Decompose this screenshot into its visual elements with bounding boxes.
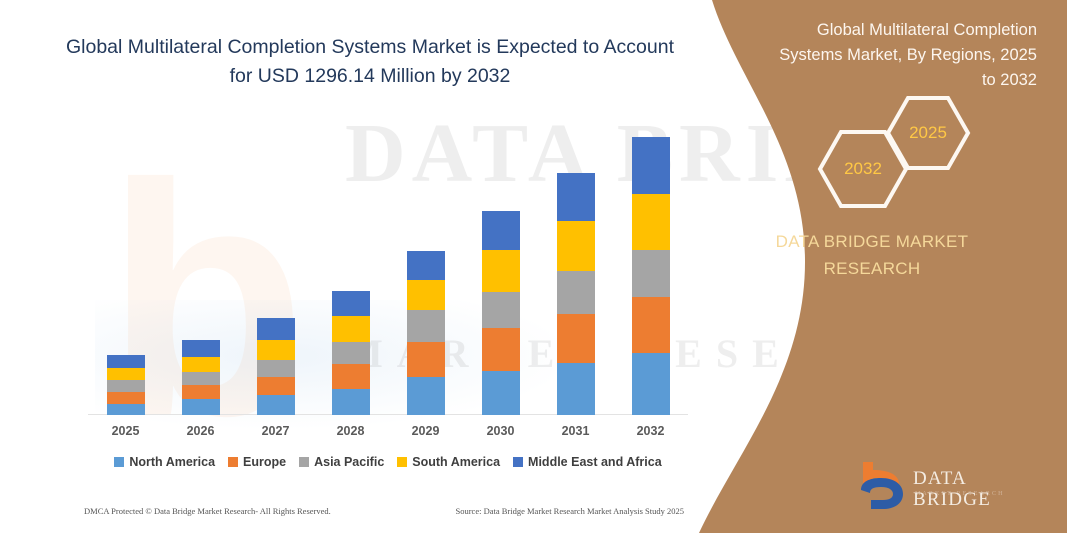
bar-segment-north-america bbox=[332, 389, 370, 415]
footer-dmca-text: DMCA Protected © Data Bridge Market Rese… bbox=[84, 506, 331, 516]
bar-segment-europe bbox=[182, 385, 220, 399]
bar-2027 bbox=[257, 318, 295, 415]
bar-segment-south-america bbox=[407, 280, 445, 310]
databridge-logo: DATA BRIDGE MARKET RESEARCH bbox=[855, 458, 1045, 514]
bar-segment-asia-pacific bbox=[257, 360, 295, 377]
bar-segment-north-america bbox=[182, 399, 220, 415]
databridge-logo-mark bbox=[855, 460, 909, 512]
bar-segment-north-america bbox=[632, 353, 670, 415]
bar-segment-south-america bbox=[182, 357, 220, 372]
bar-segment-north-america bbox=[557, 363, 595, 415]
bar-segment-south-america bbox=[257, 340, 295, 360]
bar-segment-north-america bbox=[257, 395, 295, 415]
bar-2029 bbox=[407, 251, 445, 415]
bar-2030 bbox=[482, 211, 520, 415]
legend-item-middle-east-and-africa[interactable]: Middle East and Africa bbox=[513, 455, 662, 469]
bar-segment-europe bbox=[107, 392, 145, 404]
hex-badges: 2032 2025 bbox=[677, 95, 1067, 210]
legend-item-asia-pacific[interactable]: Asia Pacific bbox=[299, 455, 384, 469]
bar-segment-asia-pacific bbox=[332, 342, 370, 364]
bar-segment-europe bbox=[257, 377, 295, 395]
stacked-bar-chart bbox=[88, 120, 688, 415]
chart-title: Global Multilateral Completion Systems M… bbox=[60, 33, 680, 91]
infographic-canvas: b DATA BRIDGE MARKET RESEARCH Global Mul… bbox=[0, 0, 1067, 533]
bar-segment-middle-east-and-africa bbox=[557, 173, 595, 220]
footer: DMCA Protected © Data Bridge Market Rese… bbox=[84, 506, 684, 516]
bar-segment-asia-pacific bbox=[632, 250, 670, 297]
chart-legend: North AmericaEuropeAsia PacificSouth Ame… bbox=[88, 455, 688, 469]
databridge-logo-wordmark: DATA BRIDGE bbox=[913, 468, 1045, 510]
bar-segment-south-america bbox=[482, 250, 520, 292]
x-label-2029: 2029 bbox=[396, 424, 456, 438]
legend-swatch-icon bbox=[513, 457, 523, 467]
brand-name: DATA BRIDGE MARKET RESEARCH bbox=[677, 228, 1067, 282]
x-label-2031: 2031 bbox=[546, 424, 606, 438]
x-label-2032: 2032 bbox=[621, 424, 681, 438]
bar-segment-middle-east-and-africa bbox=[332, 291, 370, 316]
bar-segment-south-america bbox=[632, 194, 670, 250]
legend-item-south-america[interactable]: South America bbox=[397, 455, 500, 469]
databridge-logo-subtitle: MARKET RESEARCH bbox=[915, 491, 1005, 497]
legend-swatch-icon bbox=[299, 457, 309, 467]
hex-badge-2025-label: 2025 bbox=[885, 95, 971, 171]
bar-segment-asia-pacific bbox=[107, 380, 145, 392]
x-label-2026: 2026 bbox=[171, 424, 231, 438]
bar-2025 bbox=[107, 355, 145, 415]
x-label-2028: 2028 bbox=[321, 424, 381, 438]
bar-segment-south-america bbox=[557, 221, 595, 271]
legend-swatch-icon bbox=[397, 457, 407, 467]
bar-segment-europe bbox=[332, 364, 370, 389]
bar-segment-middle-east-and-africa bbox=[407, 251, 445, 280]
bar-segment-asia-pacific bbox=[182, 372, 220, 385]
legend-swatch-icon bbox=[114, 457, 124, 467]
panel-title: Global Multilateral Completion Systems M… bbox=[775, 18, 1037, 93]
x-label-2025: 2025 bbox=[96, 424, 156, 438]
bar-segment-asia-pacific bbox=[407, 310, 445, 341]
x-axis-line bbox=[88, 414, 688, 415]
bar-segment-europe bbox=[407, 342, 445, 377]
bar-2028 bbox=[332, 291, 370, 415]
bar-segment-north-america bbox=[107, 404, 145, 415]
x-label-2027: 2027 bbox=[246, 424, 306, 438]
brand-name-line1: DATA BRIDGE MARKET bbox=[776, 232, 969, 251]
bar-2032 bbox=[632, 137, 670, 415]
legend-label: North America bbox=[129, 455, 215, 469]
bar-2026 bbox=[182, 340, 220, 415]
brand-name-line2: RESEARCH bbox=[677, 255, 1067, 282]
chart-plot-area bbox=[88, 120, 688, 415]
bar-segment-middle-east-and-africa bbox=[257, 318, 295, 339]
brand-panel: Global Multilateral Completion Systems M… bbox=[677, 0, 1067, 533]
bar-segment-south-america bbox=[332, 316, 370, 341]
x-label-2030: 2030 bbox=[471, 424, 531, 438]
legend-label: South America bbox=[412, 455, 500, 469]
bar-segment-north-america bbox=[407, 377, 445, 415]
legend-label: Europe bbox=[243, 455, 286, 469]
bar-segment-middle-east-and-africa bbox=[107, 355, 145, 368]
footer-source-text: Source: Data Bridge Market Research Mark… bbox=[455, 506, 684, 516]
bar-segment-middle-east-and-africa bbox=[632, 137, 670, 193]
bar-segment-europe bbox=[632, 297, 670, 352]
legend-item-europe[interactable]: Europe bbox=[228, 455, 286, 469]
bar-2031 bbox=[557, 173, 595, 415]
bar-segment-middle-east-and-africa bbox=[482, 211, 520, 250]
legend-label: Asia Pacific bbox=[314, 455, 384, 469]
x-axis-labels: 20252026202720282029203020312032 bbox=[88, 424, 688, 444]
bar-segment-middle-east-and-africa bbox=[182, 340, 220, 357]
bar-segment-europe bbox=[482, 328, 520, 370]
bar-segment-asia-pacific bbox=[557, 271, 595, 314]
legend-swatch-icon bbox=[228, 457, 238, 467]
hex-badge-2025: 2025 bbox=[885, 95, 971, 171]
bar-segment-asia-pacific bbox=[482, 292, 520, 328]
legend-label: Middle East and Africa bbox=[528, 455, 662, 469]
bar-segment-south-america bbox=[107, 368, 145, 380]
bar-segment-north-america bbox=[482, 371, 520, 415]
legend-item-north-america[interactable]: North America bbox=[114, 455, 215, 469]
bar-segment-europe bbox=[557, 314, 595, 362]
